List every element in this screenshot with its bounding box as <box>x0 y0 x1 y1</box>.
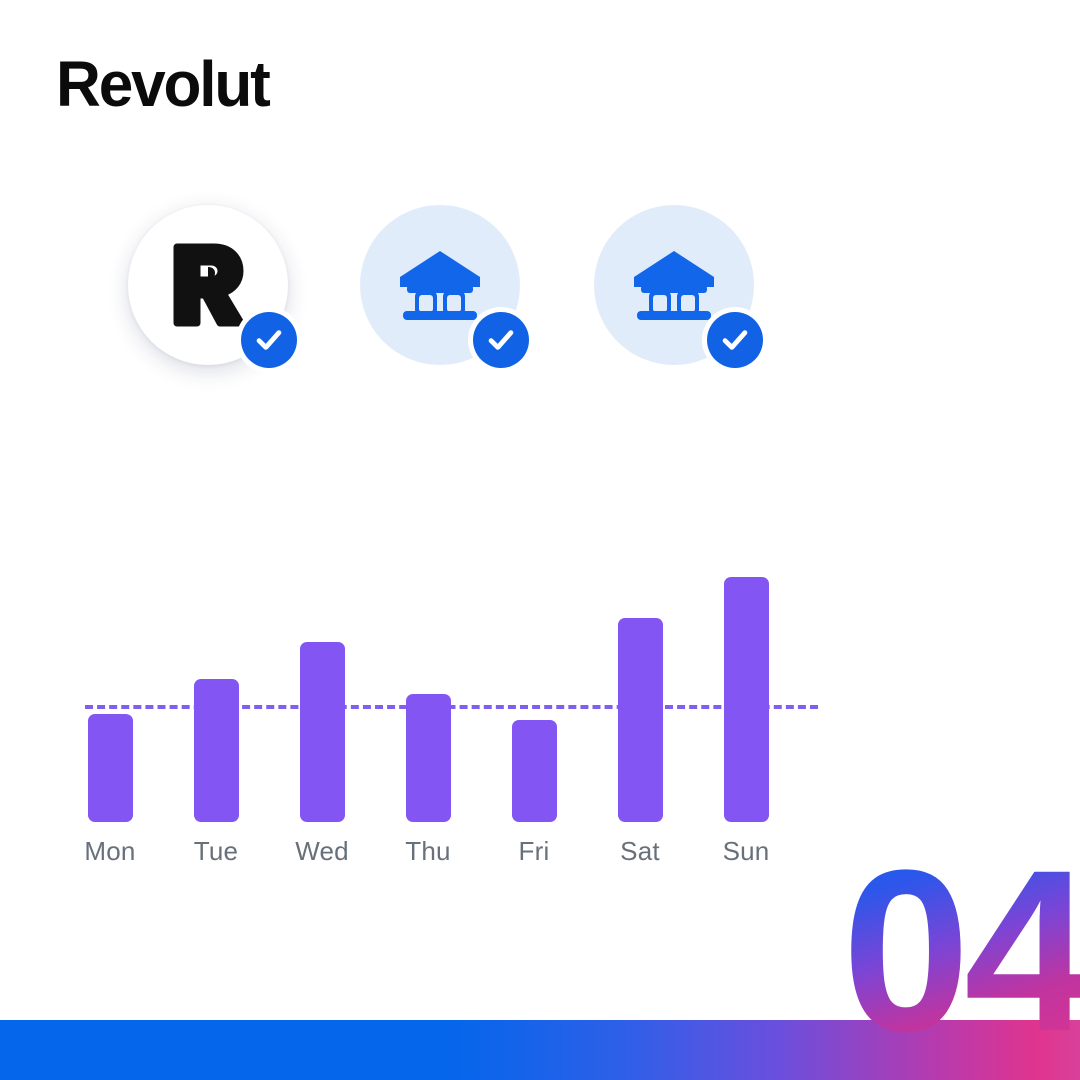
bar-mon[interactable] <box>88 714 133 822</box>
step-number: 04 <box>842 836 1080 1066</box>
bar-series <box>85 540 820 822</box>
verified-check-badge <box>236 307 302 373</box>
check-circle <box>707 312 763 368</box>
account-badge-bank-1[interactable] <box>360 205 520 365</box>
revolut-r-icon <box>167 242 249 328</box>
check-circle <box>473 312 529 368</box>
x-label-tue: Tue <box>171 836 261 867</box>
check-icon <box>718 323 752 357</box>
bar-fri[interactable] <box>512 720 557 822</box>
account-badge-revolut[interactable] <box>128 205 288 365</box>
revolut-wordmark: Revolut <box>56 52 269 116</box>
x-label-sun: Sun <box>701 836 791 867</box>
chart-plot-area <box>85 540 820 822</box>
bar-wed[interactable] <box>300 642 345 822</box>
x-label-sat: Sat <box>595 836 685 867</box>
bank-icon <box>397 247 483 323</box>
promo-card: Revolut <box>0 0 1080 1080</box>
verified-check-badge <box>702 307 768 373</box>
check-circle <box>241 312 297 368</box>
account-badge-bank-2[interactable] <box>594 205 754 365</box>
x-axis-labels: MonTueWedThuFriSatSun <box>85 836 820 876</box>
bar-thu[interactable] <box>406 694 451 822</box>
verified-accounts-row <box>128 205 808 385</box>
bar-tue[interactable] <box>194 679 239 822</box>
check-icon <box>252 323 286 357</box>
verified-check-badge <box>468 307 534 373</box>
bar-sun[interactable] <box>724 577 769 822</box>
bank-icon <box>631 247 717 323</box>
check-icon <box>484 323 518 357</box>
x-label-thu: Thu <box>383 836 473 867</box>
bar-sat[interactable] <box>618 618 663 822</box>
x-label-mon: Mon <box>65 836 155 867</box>
x-label-fri: Fri <box>489 836 579 867</box>
x-label-wed: Wed <box>277 836 367 867</box>
